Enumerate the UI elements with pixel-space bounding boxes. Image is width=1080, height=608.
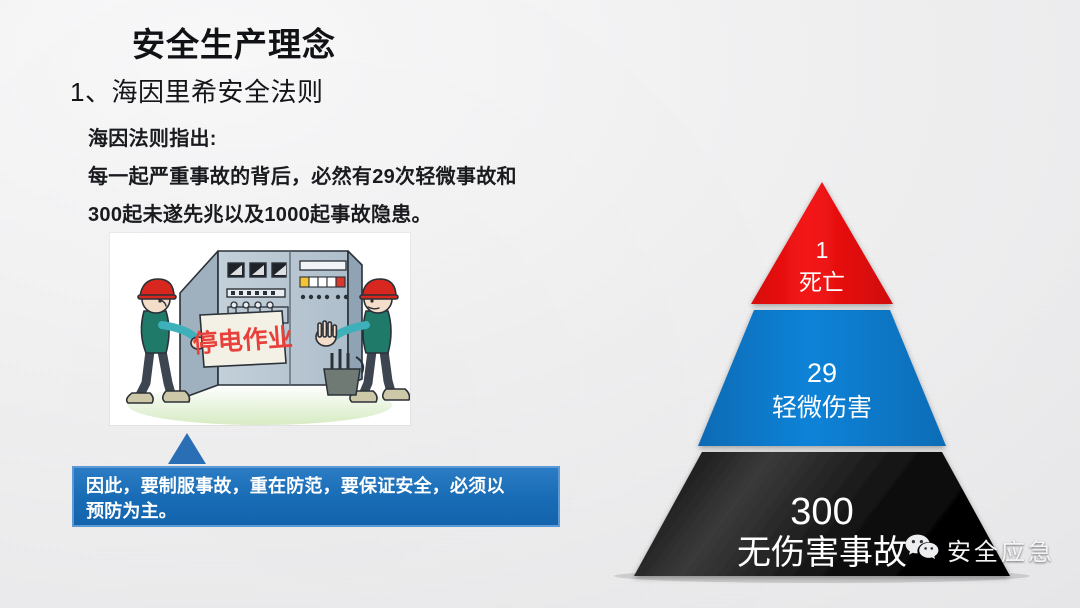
tier-2-label: 轻微伤害 bbox=[772, 394, 872, 422]
callout-line-2: 预防为主。 bbox=[86, 499, 548, 524]
heinrich-accident-pyramid: 300 无伤害事故 29 轻微伤害 1 死亡 bbox=[612, 176, 1032, 580]
tier-2-number: 29 bbox=[807, 358, 837, 388]
body-line-1: 海因法则指出: bbox=[88, 120, 628, 158]
section-subtitle: 1、海因里希安全法则 bbox=[70, 72, 323, 109]
wechat-icon bbox=[905, 534, 939, 566]
callout-pointer-icon bbox=[168, 433, 206, 464]
body-line-3: 300起未遂先兆以及1000起事故隐患。 bbox=[88, 196, 628, 234]
cartoon-graphic: 停电作业 bbox=[110, 233, 410, 425]
page-title: 安全生产理念 bbox=[132, 18, 336, 66]
tier-3-number: 300 bbox=[790, 491, 853, 533]
tier-3-label: 无伤害事故 bbox=[737, 534, 907, 572]
watermark-label: 安全应急 bbox=[947, 532, 1055, 567]
body-paragraph: 海因法则指出: 每一起严重事故的背后，必然有29次轻微事故和 300起未遂先兆以… bbox=[88, 120, 628, 234]
body-line-2: 每一起严重事故的背后，必然有29次轻微事故和 bbox=[88, 158, 628, 196]
presentation-slide: 安全生产理念 1、海因里希安全法则 海因法则指出: 每一起严重事故的背后，必然有… bbox=[0, 0, 1080, 608]
wechat-watermark: 安全应急 bbox=[905, 532, 1055, 567]
safety-cartoon-illustration: 停电作业 bbox=[110, 233, 410, 425]
callout-line-1: 因此，要制服事故，重在防范，要保证安全，必须以 bbox=[86, 474, 548, 499]
conclusion-callout: 因此，要制服事故，重在防范，要保证安全，必须以 预防为主。 bbox=[72, 466, 560, 527]
tier-1-number: 1 bbox=[816, 237, 829, 263]
tier-1-label: 死亡 bbox=[799, 269, 845, 295]
